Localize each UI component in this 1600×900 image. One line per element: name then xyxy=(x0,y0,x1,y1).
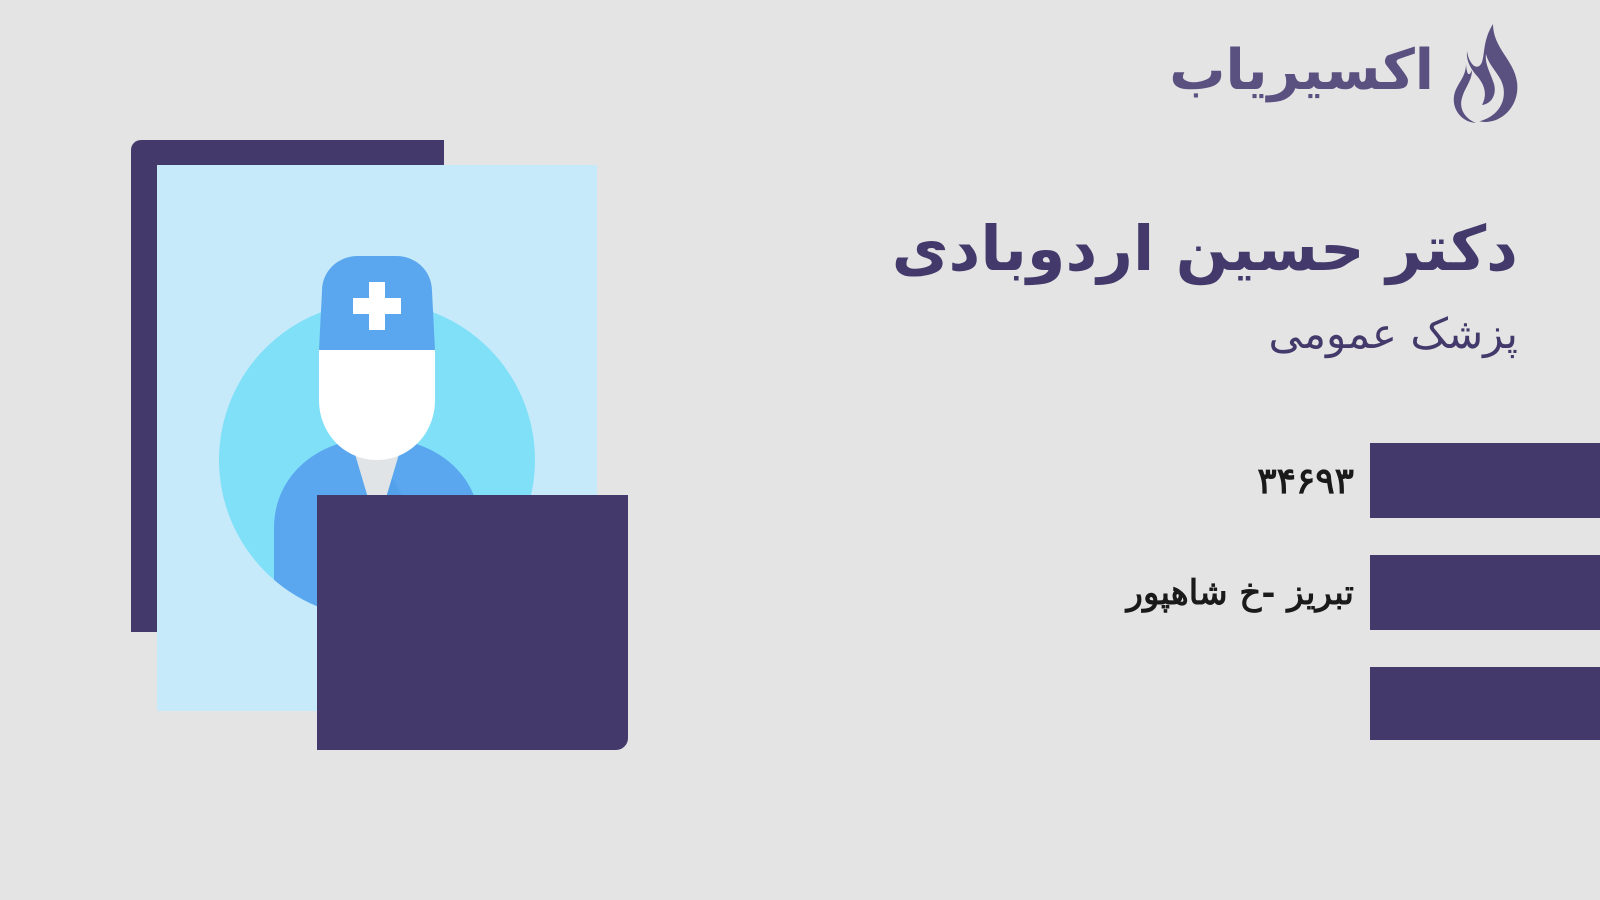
bar-accent-3 xyxy=(1370,667,1600,740)
doctor-info: دکتر حسین اردوبادی پزشک عمومی xyxy=(758,210,1518,362)
flame-droplet-icon xyxy=(1444,22,1522,126)
meta-row-code: ۳۴۶۹۳ xyxy=(0,443,1600,518)
doctor-code: ۳۴۶۹۳ xyxy=(1257,460,1354,502)
meta-row-blank xyxy=(0,667,1600,740)
bar-accent-1 xyxy=(1370,443,1600,518)
meta-bar-group: ۳۴۶۹۳ تبریز -خ شاهپور xyxy=(0,443,1600,743)
doctor-name: دکتر حسین اردوبادی xyxy=(758,210,1518,288)
doctor-address: تبریز -خ شاهپور xyxy=(1127,573,1354,613)
meta-row-address: تبریز -خ شاهپور xyxy=(0,555,1600,630)
doctor-specialty: پزشک عمومی xyxy=(758,306,1518,363)
profile-card-canvas: اکسیریاب xyxy=(0,0,1600,900)
brand-name: اکسیریاب xyxy=(1169,43,1434,105)
brand-lockup[interactable]: اکسیریاب xyxy=(1169,22,1522,126)
bar-accent-2 xyxy=(1370,555,1600,630)
